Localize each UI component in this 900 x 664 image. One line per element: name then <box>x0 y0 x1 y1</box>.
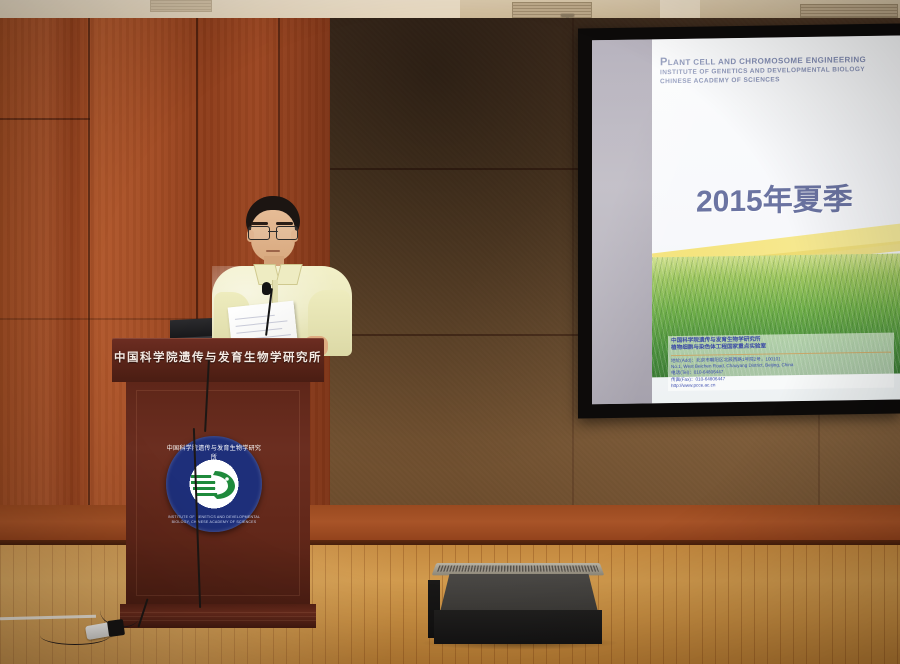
lens <box>248 226 270 240</box>
paper-line <box>236 320 288 327</box>
eyebrow <box>276 222 293 225</box>
panel-seam <box>572 18 574 546</box>
slide-header-dropcap: P <box>660 56 668 68</box>
monitor-front-face <box>440 574 598 612</box>
glasses-icon <box>248 226 298 238</box>
paper-line <box>236 328 282 334</box>
lens <box>276 226 298 240</box>
slide-header: PLANT CELL AND CHROMOSOME ENGINEERING IN… <box>660 54 896 87</box>
recessed-light-icon <box>150 0 212 12</box>
lectern-base <box>120 604 316 628</box>
presentation-slide: PLANT CELL AND CHROMOSOME ENGINEERING IN… <box>652 35 900 403</box>
lecture-hall-photo: PLANT CELL AND CHROMOSOME ENGINEERING IN… <box>0 0 900 664</box>
screen-surface: PLANT CELL AND CHROMOSOME ENGINEERING IN… <box>592 35 900 404</box>
lectern-header-panel: 中国科学院遗传与发育生物学研究所 <box>112 338 324 382</box>
lectern: 中国科学院遗传与发育生物学研究所 中国科学院遗传与发育生物学研究所 INSTIT… <box>112 338 324 628</box>
slide-footer: 中国科学院遗传与发育生物学研究所 植物细胞与染色体工程国家重点实验室 地址(Ad… <box>668 333 894 392</box>
projection-screen: PLANT CELL AND CHROMOSOME ENGINEERING IN… <box>578 23 900 418</box>
screen-unused-area <box>592 39 652 404</box>
institute-emblem: 中国科学院遗传与发育生物学研究所 INSTITUTE OF GENETICS A… <box>166 436 262 532</box>
microphone-icon <box>262 282 271 295</box>
presenter <box>212 196 352 356</box>
air-vent-icon <box>512 2 592 18</box>
stage-monitor-speaker <box>428 562 608 646</box>
emblem-english-text: INSTITUTE OF GENETICS AND DEVELOPMENTAL … <box>166 515 262 524</box>
monitor-grille <box>432 563 605 575</box>
eyebrow <box>251 222 268 225</box>
lectern-nameplate: 中国科学院遗传与发育生物学研究所 <box>112 349 324 365</box>
air-vent-icon <box>800 4 898 18</box>
power-brick <box>107 619 125 637</box>
mouth <box>266 250 280 252</box>
emblem-chinese-text: 中国科学院遗传与发育生物学研究所 <box>166 443 262 461</box>
wood-seam <box>88 18 90 548</box>
slide-title: 2015年夏季 <box>696 174 853 220</box>
wood-seam <box>0 118 90 120</box>
monitor-body <box>434 610 602 644</box>
